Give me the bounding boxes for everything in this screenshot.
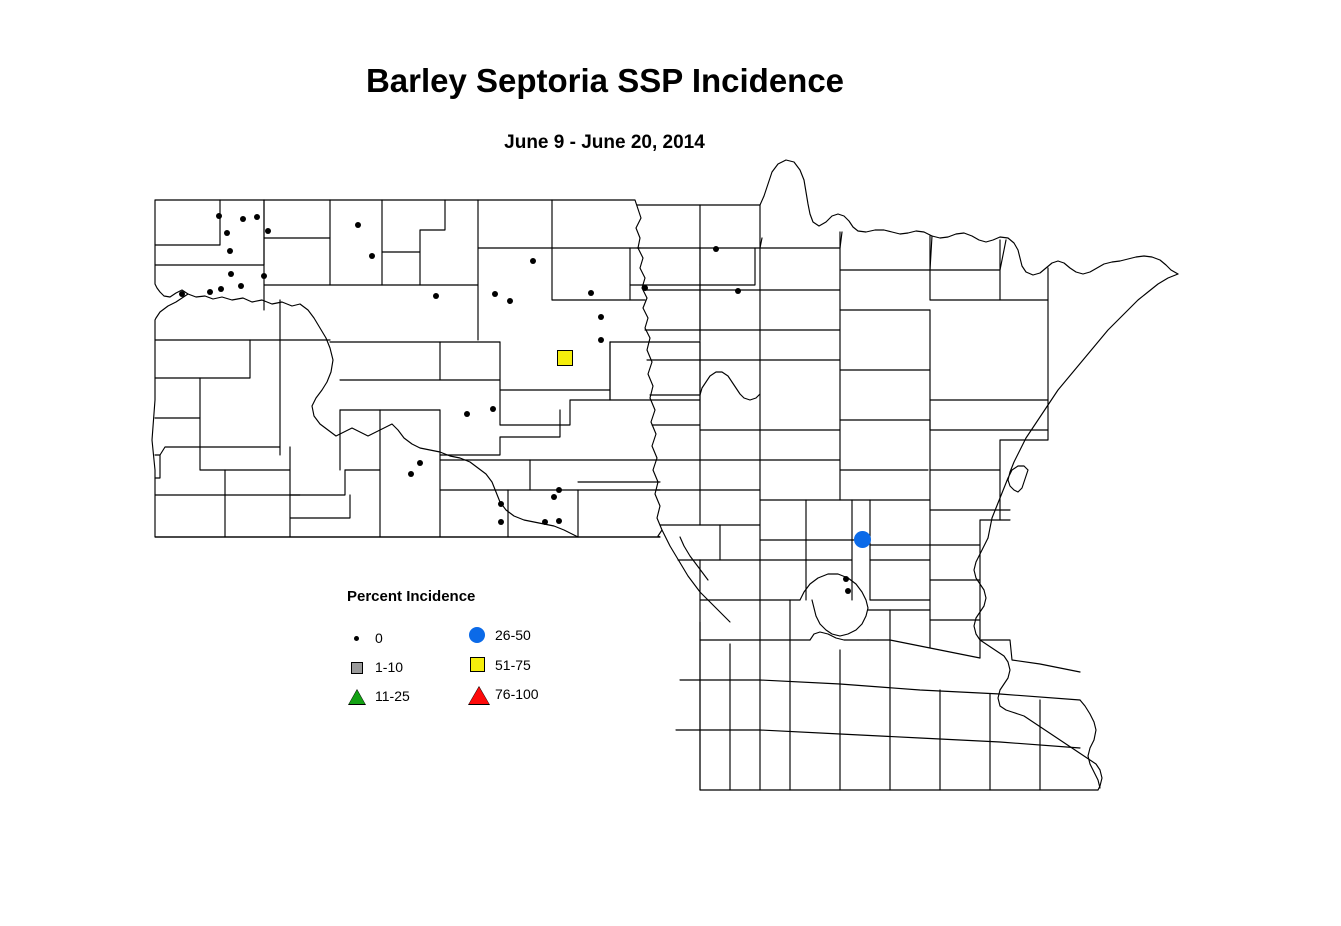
marker-dot-zero xyxy=(238,283,244,289)
marker-dot-zero xyxy=(588,290,594,296)
nd-vline-13 xyxy=(155,455,160,478)
mn-line-6 xyxy=(930,240,1006,270)
minnesota-sd-border-top xyxy=(680,537,708,580)
mn-line-15 xyxy=(650,372,760,400)
marker-dot-zero xyxy=(408,471,414,477)
marker-dot-zero xyxy=(556,518,562,524)
marker-dot-zero xyxy=(227,248,233,254)
marker-dot-zero xyxy=(598,314,604,320)
nd-line-16 xyxy=(200,447,290,470)
legend-label-3: 26-50 xyxy=(495,627,531,643)
marker-dot-zero xyxy=(179,291,185,297)
nd-line-20 xyxy=(290,495,350,518)
minnesota-north-border xyxy=(637,160,1178,275)
marker-dot-zero xyxy=(498,519,504,525)
mn-metro-12 xyxy=(980,640,1080,672)
mille-lacs-lake xyxy=(800,574,868,636)
marker-dot-zero xyxy=(369,253,375,259)
nd-line-23 xyxy=(340,342,440,380)
marker-dot-zero xyxy=(507,298,513,304)
marker-dot-zero xyxy=(355,222,361,228)
mn-line-24 xyxy=(930,440,1048,470)
legend-label-0: 0 xyxy=(375,630,383,646)
nd-line-26 xyxy=(500,342,610,425)
marker-dot-zero xyxy=(490,406,496,412)
mn-line-43 xyxy=(868,610,890,640)
map-page: Barley Septoria SSP Incidence June 9 - J… xyxy=(0,0,1341,926)
mn-line-34 xyxy=(930,520,1010,545)
marker-dot-zero xyxy=(228,271,234,277)
marker-dot-zero xyxy=(498,501,504,507)
yellow-square-icon xyxy=(467,654,489,676)
legend-label-2: 11-25 xyxy=(375,688,410,704)
mn-south-2 xyxy=(676,730,1080,748)
marker-square-51-75 xyxy=(557,350,573,366)
nd-line-19 xyxy=(290,470,345,495)
marker-dot-zero xyxy=(642,285,648,291)
marker-dot-zero xyxy=(598,337,604,343)
marker-dot-zero xyxy=(207,289,213,295)
blue-circle-icon xyxy=(467,624,489,646)
nd-line-5 xyxy=(382,200,552,285)
nd-line-2 xyxy=(264,200,330,238)
marker-dot-zero xyxy=(417,460,423,466)
marker-dot-zero xyxy=(735,288,741,294)
marker-dot-zero xyxy=(218,286,224,292)
mn-metro-8 xyxy=(868,640,980,658)
marker-dot-zero xyxy=(224,230,230,236)
marker-dot-zero xyxy=(542,519,548,525)
nd-line-14 xyxy=(155,447,200,455)
red-triangle-icon xyxy=(467,683,489,705)
marker-circle-26-50 xyxy=(854,531,871,548)
marker-dot-zero xyxy=(551,494,557,500)
map-canvas xyxy=(0,0,1341,926)
marker-dot-zero xyxy=(843,576,849,582)
marker-dot-zero xyxy=(530,258,536,264)
marker-dot-zero xyxy=(240,216,246,222)
gray-square-icon xyxy=(347,656,369,678)
marker-dot-zero xyxy=(845,588,851,594)
nd-line-divide-nw xyxy=(155,200,264,265)
county-boundaries xyxy=(152,160,1178,790)
map-legend: Percent Incidence 0 1-10 11-25 26-50 51-… xyxy=(347,588,577,713)
nd-line-4 xyxy=(382,200,445,252)
legend-label-1: 1-10 xyxy=(375,659,403,675)
mn-line-3 xyxy=(760,232,842,248)
legend-title: Percent Incidence xyxy=(347,588,475,605)
lake-superior-shore xyxy=(988,274,1178,538)
marker-dot-zero xyxy=(261,273,267,279)
marker-dot-zero xyxy=(254,214,260,220)
legend-label-4: 51-75 xyxy=(495,657,531,673)
green-triangle-icon xyxy=(347,685,369,707)
nd-line-9 xyxy=(700,248,755,285)
marker-dot-zero xyxy=(433,293,439,299)
marker-dot-zero xyxy=(713,246,719,252)
marker-dot-zero xyxy=(265,228,271,234)
mn-south-1 xyxy=(680,680,1080,700)
marker-dot-zero xyxy=(216,213,222,219)
map-graphic xyxy=(0,0,1341,926)
marker-dot-zero xyxy=(464,411,470,417)
missouri-river xyxy=(188,294,578,537)
marker-dot-zero xyxy=(556,487,562,493)
small-black-dot-icon xyxy=(347,627,369,649)
legend-label-5: 76-100 xyxy=(495,686,539,702)
marker-dot-zero xyxy=(492,291,498,297)
mn-line-5 xyxy=(840,236,932,270)
